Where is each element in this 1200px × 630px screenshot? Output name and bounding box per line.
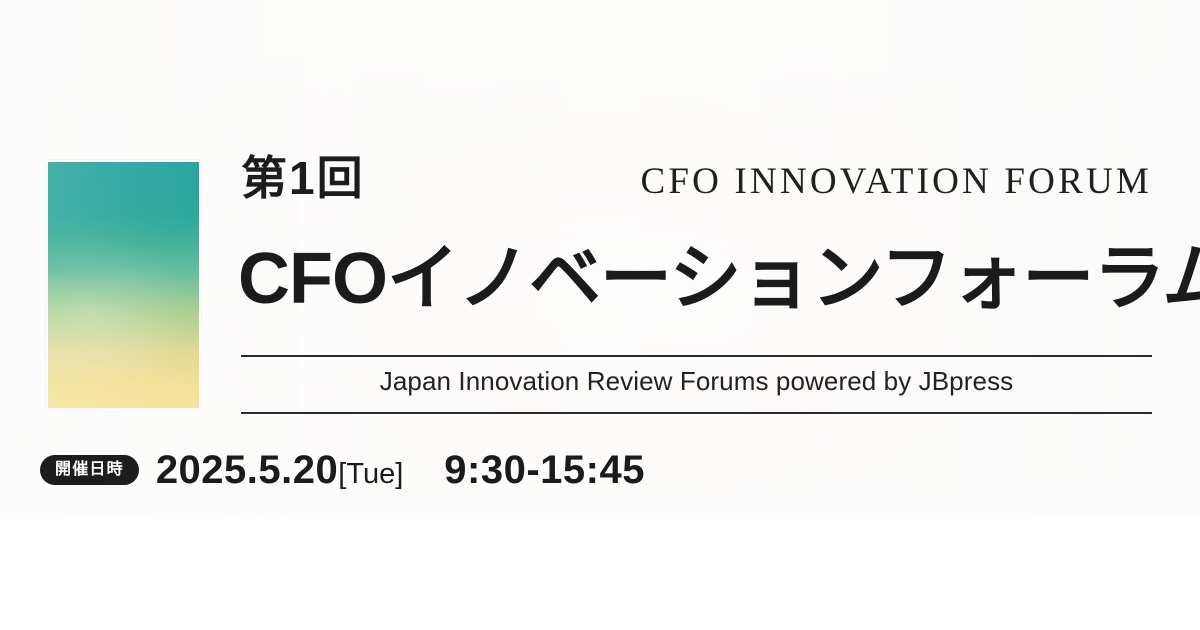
gradient-key-visual	[46, 160, 201, 410]
event-date-text: 2025.5.20	[156, 450, 338, 490]
edition-label: 第1回	[241, 155, 365, 201]
event-day-of-week: [Tue]	[338, 460, 403, 489]
event-banner: 第1回 CFO INNOVATION FORUM CFOイノベーションフォーラム…	[0, 0, 1200, 630]
tagline: Japan Innovation Review Forums powered b…	[241, 367, 1152, 396]
page-title: CFOイノベーションフォーラム	[238, 243, 1200, 315]
event-datetime-row: 開催日時 2025.5.20[Tue] 9:30-15:45	[40, 450, 645, 490]
banner-footer-space	[0, 513, 1200, 630]
eyebrow-title: CFO INNOVATION FORUM	[641, 163, 1153, 200]
banner-artwork: 第1回 CFO INNOVATION FORUM CFOイノベーションフォーラム…	[0, 0, 1200, 513]
key-visual-sheen	[48, 162, 199, 408]
divider-top	[241, 355, 1152, 357]
status-badge: 開催日時	[40, 455, 139, 485]
divider-bottom	[241, 412, 1152, 414]
banner-text-block: 第1回 CFO INNOVATION FORUM CFOイノベーションフォーラム…	[241, 0, 1152, 513]
event-date: 2025.5.20[Tue]	[156, 450, 403, 490]
event-time: 9:30-15:45	[444, 450, 645, 490]
